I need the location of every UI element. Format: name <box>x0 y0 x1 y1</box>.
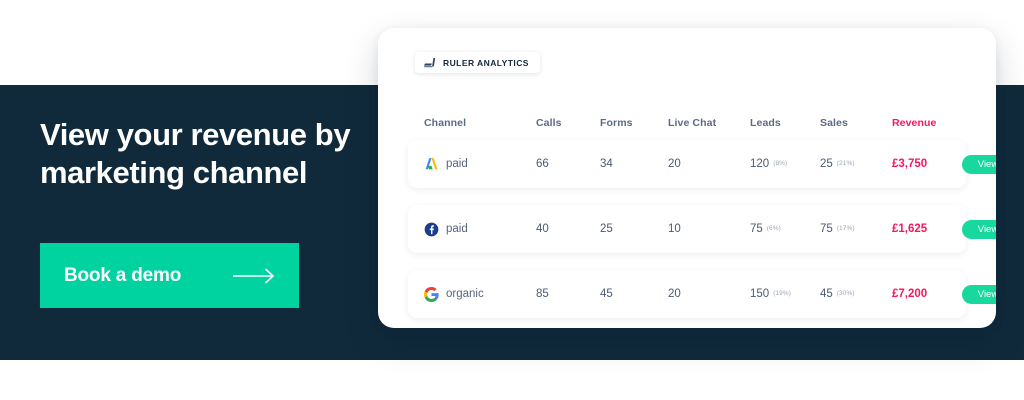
table-row[interactable]: organic 85 45 20 150(19%) 45(30%) £7,200… <box>408 270 966 318</box>
leads-value: 150(19%) <box>750 288 820 300</box>
ruler-analytics-logo: RULER ANALYTICS <box>415 52 540 73</box>
page-title: View your revenue by marketing channel <box>40 116 370 191</box>
leads-percent: (8%) <box>773 160 787 167</box>
google-ads-icon <box>424 157 439 172</box>
sales-number: 25 <box>820 158 833 170</box>
column-header-channel: Channel <box>424 117 536 129</box>
calls-value: 85 <box>536 288 600 300</box>
cta-label: Book a demo <box>64 265 181 287</box>
column-header-live-chat: Live Chat <box>668 117 750 129</box>
channel-performance-table: Channel Calls Forms Live Chat Leads Sale… <box>408 106 966 328</box>
google-icon <box>424 287 439 302</box>
calls-value: 40 <box>536 223 600 235</box>
channel-label: paid <box>446 158 468 170</box>
row-action: View <box>962 220 996 239</box>
channel-label: organic <box>446 288 484 300</box>
leads-percent: (19%) <box>773 290 791 297</box>
sales-number: 75 <box>820 223 833 235</box>
sales-value: 45(30%) <box>820 288 892 300</box>
channel-cell: paid <box>424 157 536 172</box>
book-a-demo-button[interactable]: Book a demo <box>40 243 299 308</box>
live-chat-value: 20 <box>668 158 750 170</box>
view-button[interactable]: View <box>962 155 996 174</box>
leads-number: 75 <box>750 223 763 235</box>
column-header-forms: Forms <box>600 117 668 129</box>
revenue-value: £7,200 <box>892 288 962 300</box>
leads-number: 120 <box>750 158 769 170</box>
table-header-row: Channel Calls Forms Live Chat Leads Sale… <box>408 106 966 140</box>
leads-value: 120(8%) <box>750 158 820 170</box>
column-header-sales: Sales <box>820 117 892 129</box>
sales-percent: (30%) <box>837 290 855 297</box>
row-action: View <box>962 285 996 304</box>
column-header-revenue: Revenue <box>892 117 962 129</box>
logo-text: RULER ANALYTICS <box>443 58 529 68</box>
sales-value: 75(17%) <box>820 223 892 235</box>
channel-cell: organic <box>424 287 536 302</box>
revenue-value: £1,625 <box>892 223 962 235</box>
sales-percent: (17%) <box>837 225 855 232</box>
leads-number: 150 <box>750 288 769 300</box>
leads-value: 75(6%) <box>750 223 820 235</box>
revenue-value: £3,750 <box>892 158 962 170</box>
live-chat-value: 20 <box>668 288 750 300</box>
live-chat-value: 10 <box>668 223 750 235</box>
view-button[interactable]: View <box>962 285 996 304</box>
forms-value: 34 <box>600 158 668 170</box>
sales-number: 45 <box>820 288 833 300</box>
view-button[interactable]: View <box>962 220 996 239</box>
channel-label: paid <box>446 223 468 235</box>
table-row[interactable]: paid 40 25 10 75(6%) 75(17%) £1,625 View <box>408 205 966 253</box>
sales-value: 25(21%) <box>820 158 892 170</box>
forms-value: 45 <box>600 288 668 300</box>
forms-value: 25 <box>600 223 668 235</box>
calls-value: 66 <box>536 158 600 170</box>
promo-copy: View your revenue by marketing channel <box>40 116 370 191</box>
sales-percent: (21%) <box>837 160 855 167</box>
ruler-analytics-logo-icon <box>424 57 437 68</box>
column-header-leads: Leads <box>750 117 820 129</box>
facebook-icon <box>424 222 439 237</box>
row-action: View <box>962 155 996 174</box>
column-header-calls: Calls <box>536 117 600 129</box>
analytics-dashboard-card: RULER ANALYTICS Channel Calls Forms Live… <box>378 28 996 328</box>
arrow-right-icon <box>233 268 277 284</box>
channel-cell: paid <box>424 222 536 237</box>
leads-percent: (6%) <box>767 225 781 232</box>
table-row[interactable]: paid 66 34 20 120(8%) 25(21%) £3,750 Vie… <box>408 140 966 188</box>
